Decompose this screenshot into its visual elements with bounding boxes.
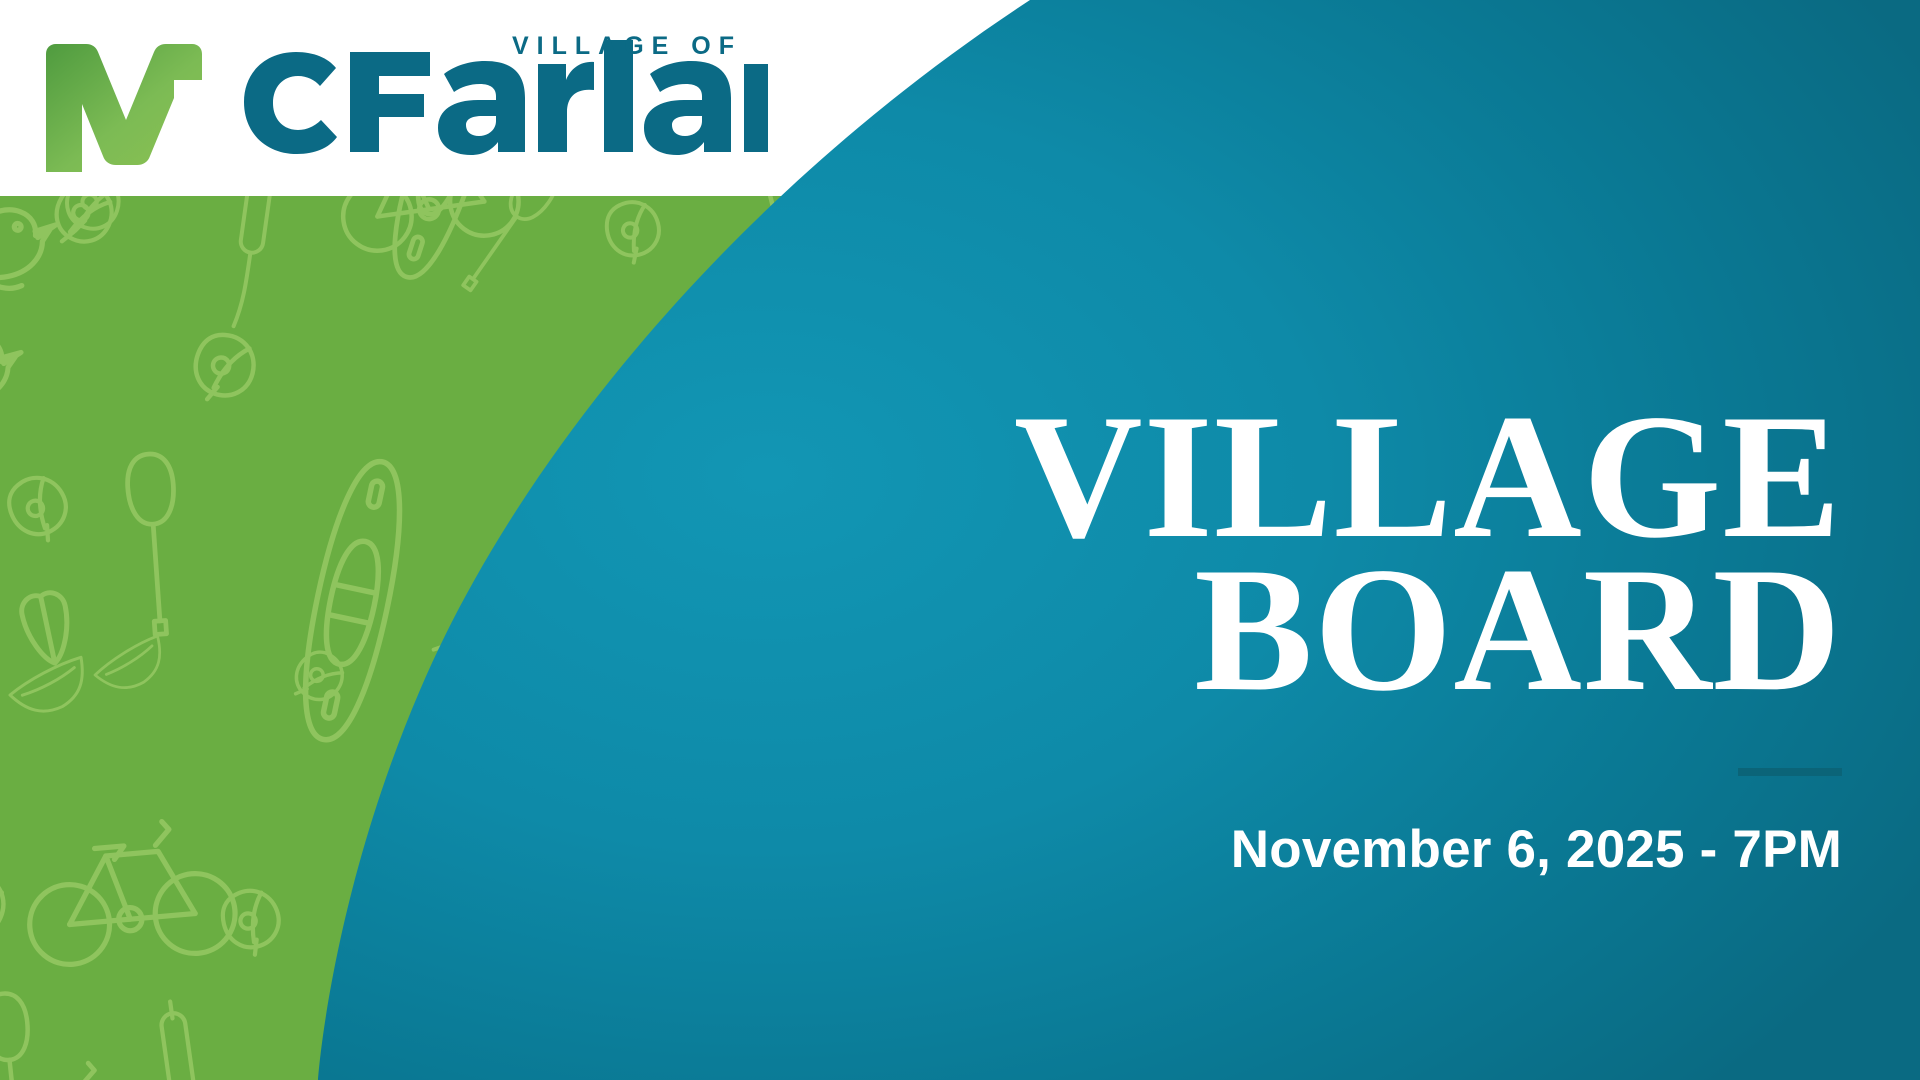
mcfarland-logo[interactable]: VILLAGE OF VILLAGE OF McFarland	[38, 24, 768, 182]
poster-canvas: VILLAGE OF VILLAGE OF McFarland VILLAGE …	[0, 0, 1920, 1080]
page-title: VILLAGE BOARD	[822, 400, 1842, 706]
title-divider	[1738, 768, 1842, 776]
mcfarland-logo-svg: VILLAGE OF	[38, 24, 768, 182]
title-line-2: BOARD	[822, 553, 1842, 706]
event-content: VILLAGE BOARD November 6, 2025 - 7PM	[822, 400, 1842, 880]
event-date: November 6, 2025 - 7PM	[822, 819, 1842, 880]
logo-eyebrow-text: VILLAGE OF	[512, 32, 742, 60]
